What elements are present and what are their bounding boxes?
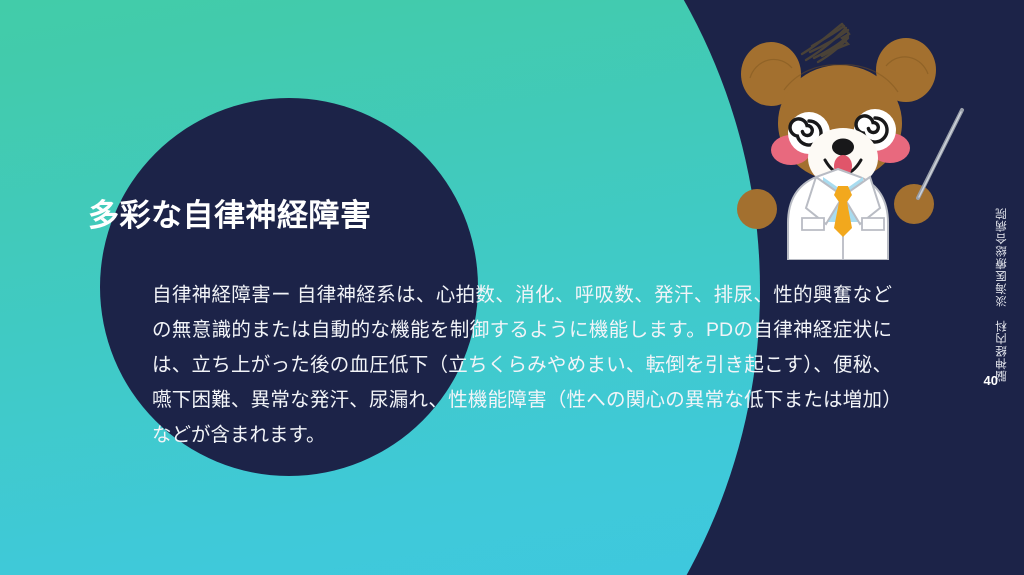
page-number: 40: [984, 373, 998, 388]
presentation-slide: 多彩な自律神経障害 自律神経障害ー 自律神経系は、心拍数、消化、呼吸数、発汗、排…: [0, 0, 1024, 575]
slide-body-text: 自律神経障害ー 自律神経系は、心拍数、消化、呼吸数、発汗、排尿、性的興奮などの無…: [152, 278, 892, 453]
nose-icon: [832, 139, 854, 156]
pointer-stick-icon: [918, 110, 962, 198]
left-paw-icon: [737, 189, 777, 229]
hair-tuft-icon: [802, 24, 849, 62]
vertical-credit-text: 脳神経内科 淡海医療総合病院: [994, 142, 1010, 382]
slide-title: 多彩な自律神経障害: [88, 190, 372, 235]
right-paw-icon: [894, 184, 934, 224]
bear-doctor-icon: [730, 8, 982, 260]
